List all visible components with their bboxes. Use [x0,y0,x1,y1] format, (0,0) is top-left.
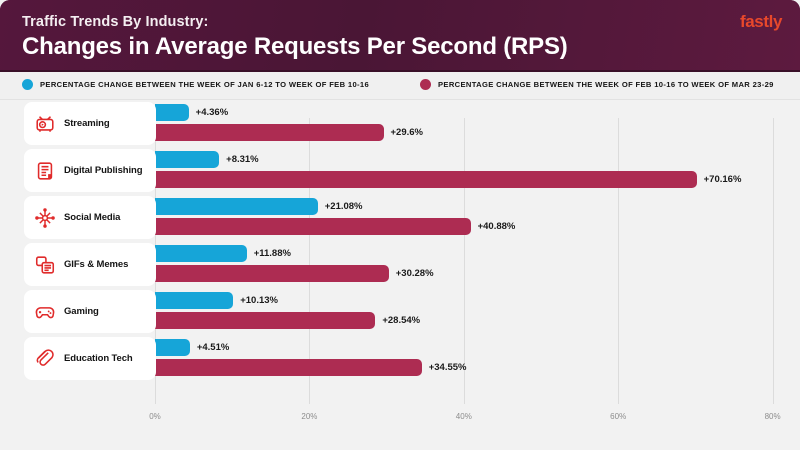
bar-value-label: +40.88% [478,221,516,232]
bar-series-b[interactable] [155,124,384,141]
chart-row: Social Media+21.08%+40.88% [0,194,800,241]
x-axis-tick-label: 0% [149,412,161,421]
x-axis-tick-label: 60% [610,412,626,421]
bar-value-label: +30.28% [396,268,434,279]
category-name: Streaming [64,118,110,129]
bar-series-b[interactable] [155,265,389,282]
x-axis-tick-label: 20% [301,412,317,421]
fastly-logo: fastly [740,12,782,32]
chart-area: 0%20%40%60%80%Streaming+4.36%+29.6%Digit… [0,100,800,450]
windows-cards-icon [34,254,56,276]
category-name: Gaming [64,306,99,317]
bar-series-b[interactable] [155,171,697,188]
chart-row: GIFs & Memes+11.88%+30.28% [0,241,800,288]
category-name: Education Tech [64,353,133,364]
header-banner: Traffic Trends By Industry: Changes in A… [0,0,800,72]
page-eyebrow: Traffic Trends By Industry: [22,14,208,30]
bar-value-label: +70.16% [704,174,742,185]
bar-series-a[interactable] [155,339,190,356]
bar-value-label: +8.31% [226,154,259,165]
legend-entry-series-b[interactable]: PERCENTAGE CHANGE BETWEEN THE WEEK OF FE… [420,79,774,90]
chart-row: Education Tech+4.51%+34.55% [0,335,800,382]
paperclips-icon [34,348,56,370]
page-title: Changes in Average Requests Per Second (… [22,33,568,61]
bar-series-a[interactable] [155,151,219,168]
bar-value-label: +29.6% [391,127,424,138]
category-label-digital-publishing[interactable]: Digital Publishing [24,149,156,192]
bar-value-label: +4.36% [196,107,229,118]
chart-legend: PERCENTAGE CHANGE BETWEEN THE WEEK OF JA… [0,72,800,100]
gamepad-icon [34,301,56,323]
category-label-streaming[interactable]: Streaming [24,102,156,145]
bar-series-b[interactable] [155,218,471,235]
bar-value-label: +4.51% [197,342,230,353]
chart-row: Gaming+10.13%+28.54% [0,288,800,335]
category-name: Social Media [64,212,120,223]
document-publishing-icon [34,160,56,182]
x-axis-tick-label: 40% [456,412,472,421]
legend-label-series-b: PERCENTAGE CHANGE BETWEEN THE WEEK OF FE… [438,80,774,89]
bar-value-label: +21.08% [325,201,363,212]
legend-dot-blue-icon [22,79,33,90]
legend-label-series-a: PERCENTAGE CHANGE BETWEEN THE WEEK OF JA… [40,80,369,89]
category-label-gifs-memes[interactable]: GIFs & Memes [24,243,156,286]
legend-dot-red-icon [420,79,431,90]
network-hub-icon [34,207,56,229]
legend-entry-series-a[interactable]: PERCENTAGE CHANGE BETWEEN THE WEEK OF JA… [22,79,369,90]
category-label-education-tech[interactable]: Education Tech [24,337,156,380]
bar-series-a[interactable] [155,292,233,309]
chart-row: Digital Publishing+8.31%+70.16% [0,147,800,194]
tv-play-icon [34,113,56,135]
bar-value-label: +34.55% [429,362,467,373]
category-label-social-media[interactable]: Social Media [24,196,156,239]
bar-series-a[interactable] [155,104,189,121]
bar-series-a[interactable] [155,198,318,215]
x-axis-tick-label: 80% [765,412,781,421]
bar-series-b[interactable] [155,312,375,329]
bar-value-label: +10.13% [240,295,278,306]
bar-value-label: +11.88% [254,248,291,259]
bar-value-label: +28.54% [382,315,420,326]
bar-series-a[interactable] [155,245,247,262]
chart-row: Streaming+4.36%+29.6% [0,100,800,147]
category-label-gaming[interactable]: Gaming [24,290,156,333]
infographic-root: Traffic Trends By Industry: Changes in A… [0,0,800,450]
plot-region: 0%20%40%60%80%Streaming+4.36%+29.6%Digit… [0,100,800,418]
category-name: GIFs & Memes [64,259,128,270]
category-name: Digital Publishing [64,165,142,176]
bar-series-b[interactable] [155,359,422,376]
